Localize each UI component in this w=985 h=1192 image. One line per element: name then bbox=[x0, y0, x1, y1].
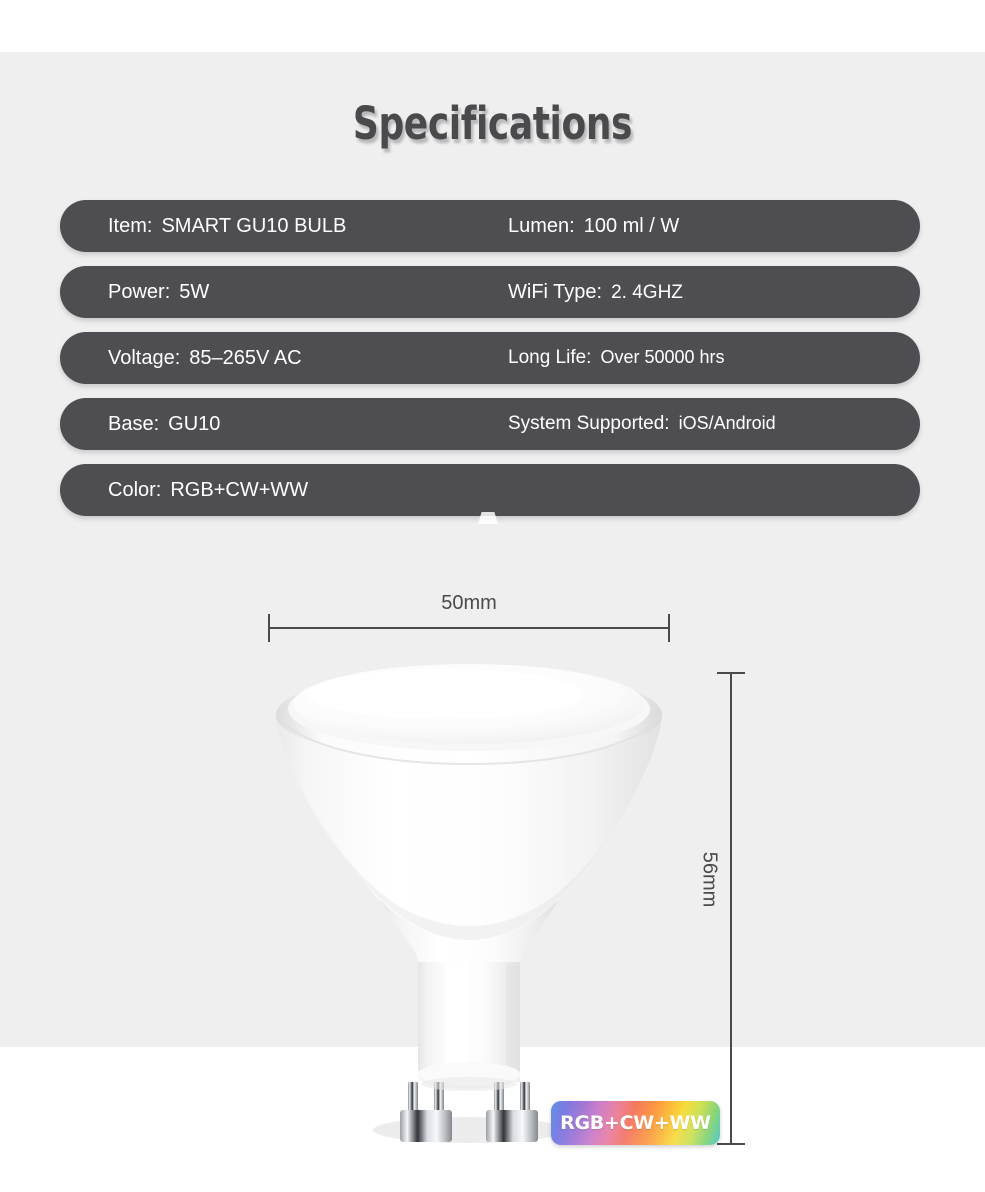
spec-value: 85–265V AC bbox=[189, 347, 301, 370]
table-row: Voltage: 85–265V AC Long Life: Over 5000… bbox=[60, 332, 920, 384]
table-row: Item: SMART GU10 BULB Lumen: 100 ml / W bbox=[60, 200, 920, 252]
spec-value: 100 ml / W bbox=[584, 215, 680, 238]
rgb-cw-ww-badge-label: RGB+CW+WW bbox=[560, 1112, 711, 1134]
gu10-bulb-illustration bbox=[268, 668, 670, 1146]
spec-label: Color: bbox=[108, 479, 161, 502]
specifications-list: Item: SMART GU10 BULB Lumen: 100 ml / W … bbox=[60, 200, 920, 530]
table-row: Power: 5W WiFi Type: 2. 4GHZ bbox=[60, 266, 920, 318]
spec-label: Lumen: bbox=[508, 215, 575, 238]
spec-value: 5W bbox=[179, 281, 209, 304]
spec-cell-color: Color: RGB+CW+WW bbox=[108, 479, 308, 502]
product-spec-page: Specifications Item: SMART GU10 BULB Lum… bbox=[0, 0, 985, 1192]
spec-label: Power: bbox=[108, 281, 170, 304]
spec-value: GU10 bbox=[168, 413, 220, 436]
spec-cell-wifi-type: WiFi Type: 2. 4GHZ bbox=[508, 281, 683, 304]
rgb-cw-ww-badge: RGB+CW+WW bbox=[551, 1101, 720, 1145]
spec-cell-voltage: Voltage: 85–265V AC bbox=[108, 347, 302, 370]
spec-cell-item: Item: SMART GU10 BULB bbox=[108, 215, 346, 238]
spec-label: Base: bbox=[108, 413, 159, 436]
spec-value: SMART GU10 BULB bbox=[161, 215, 346, 238]
height-dimension-label: 56mm bbox=[697, 852, 720, 908]
spec-label: System Supported: bbox=[508, 413, 670, 435]
spec-cell-long-life: Long Life: Over 50000 hrs bbox=[508, 347, 725, 369]
spec-label: Voltage: bbox=[108, 347, 180, 370]
width-dimension-line bbox=[268, 627, 670, 629]
spec-value: RGB+CW+WW bbox=[170, 479, 308, 502]
spec-cell-system-supported: System Supported: iOS/Android bbox=[508, 413, 776, 435]
height-dimension-line bbox=[730, 672, 732, 1145]
width-dimension-label: 50mm bbox=[268, 592, 670, 615]
spec-label: Item: bbox=[108, 215, 152, 238]
spec-value: 2. 4GHZ bbox=[611, 282, 683, 304]
spec-value: Over 50000 hrs bbox=[600, 347, 724, 368]
spec-cell-lumen: Lumen: 100 ml / W bbox=[508, 215, 679, 238]
table-row: Color: RGB+CW+WW bbox=[60, 464, 920, 516]
spec-value: iOS/Android bbox=[679, 413, 776, 434]
spec-label: Long Life: bbox=[508, 347, 591, 369]
page-title: Specifications bbox=[99, 101, 887, 146]
spec-cell-power: Power: 5W bbox=[108, 281, 209, 304]
table-row: Base: GU10 System Supported: iOS/Android bbox=[60, 398, 920, 450]
spec-label: WiFi Type: bbox=[508, 281, 602, 304]
spec-cell-base: Base: GU10 bbox=[108, 413, 220, 436]
